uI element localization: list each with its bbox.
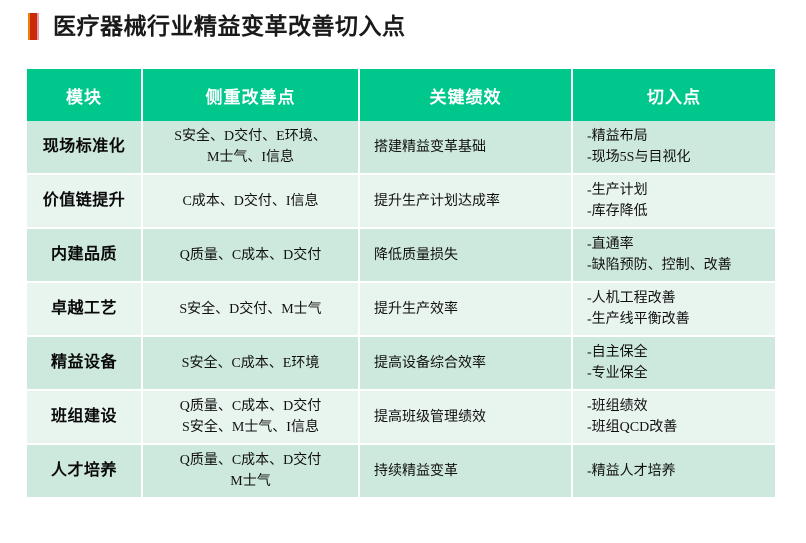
cell-kpi-line: 提升生产效率	[374, 299, 563, 320]
cell-kpi-lines: 提高设备综合效率	[374, 353, 563, 374]
cell-entry: -人机工程改善-生产线平衡改善	[573, 283, 775, 337]
cell-focus-line: Q质量、C成本、D交付	[151, 396, 350, 417]
cell-kpi: 提高班级管理绩效	[360, 391, 573, 445]
cell-module: 价值链提升	[27, 175, 143, 229]
cell-focus-lines: Q质量、C成本、D交付S安全、M士气、I信息	[151, 396, 350, 438]
cell-entry-lines: -自主保全-专业保全	[587, 342, 767, 384]
cell-focus: S安全、C成本、E环境	[143, 337, 360, 391]
cell-focus-lines: Q质量、C成本、D交付M士气	[151, 450, 350, 492]
cell-entry-line: -班组绩效	[587, 396, 767, 417]
cell-module: 卓越工艺	[27, 283, 143, 337]
cell-focus-line: S安全、M士气、I信息	[151, 417, 350, 438]
cell-focus-line: Q质量、C成本、D交付	[151, 245, 350, 266]
page-title: 医疗器械行业精益变革改善切入点	[28, 9, 406, 43]
table-row: 价值链提升C成本、D交付、I信息提升生产计划达成率-生产计划-库存降低	[27, 175, 775, 229]
cell-entry-line: -人机工程改善	[587, 288, 767, 309]
cell-kpi-lines: 降低质量损失	[374, 245, 563, 266]
cell-entry: -班组绩效-班组QCD改善	[573, 391, 775, 445]
cell-focus-lines: C成本、D交付、I信息	[151, 191, 350, 212]
cell-module: 现场标准化	[27, 121, 143, 175]
cell-focus-line: S安全、C成本、E环境	[151, 353, 350, 374]
cell-entry-line: -精益布局	[587, 126, 767, 147]
cell-focus-lines: S安全、D交付、E环境、M士气、I信息	[151, 126, 350, 168]
column-header-kpi: 关键绩效	[360, 69, 573, 121]
cell-focus: S安全、D交付、E环境、M士气、I信息	[143, 121, 360, 175]
column-header-module: 模块	[27, 69, 143, 121]
table-header: 模块 侧重改善点 关键绩效 切入点	[27, 69, 775, 121]
cell-entry-line: -精益人才培养	[587, 461, 767, 482]
table-row: 班组建设Q质量、C成本、D交付S安全、M士气、I信息提高班级管理绩效-班组绩效-…	[27, 391, 775, 445]
cell-module: 人才培养	[27, 445, 143, 497]
cell-kpi-line: 降低质量损失	[374, 245, 563, 266]
cell-kpi-line: 搭建精益变革基础	[374, 137, 563, 158]
cell-focus: Q质量、C成本、D交付	[143, 229, 360, 283]
table-row: 内建品质Q质量、C成本、D交付降低质量损失-直通率-缺陷预防、控制、改善	[27, 229, 775, 283]
cell-kpi: 提升生产效率	[360, 283, 573, 337]
cell-kpi-line: 提升生产计划达成率	[374, 191, 563, 212]
cell-kpi-lines: 搭建精益变革基础	[374, 137, 563, 158]
cell-focus: Q质量、C成本、D交付S安全、M士气、I信息	[143, 391, 360, 445]
cell-entry-lines: -精益布局-现场5S与目视化	[587, 126, 767, 168]
cell-entry-lines: -直通率-缺陷预防、控制、改善	[587, 234, 767, 276]
title-marker-icon	[28, 13, 39, 40]
cell-focus: Q质量、C成本、D交付M士气	[143, 445, 360, 497]
cell-entry-line: -直通率	[587, 234, 767, 255]
cell-entry: -精益人才培养	[573, 445, 775, 497]
cell-module: 内建品质	[27, 229, 143, 283]
cell-entry-lines: -人机工程改善-生产线平衡改善	[587, 288, 767, 330]
cell-kpi-line: 提高设备综合效率	[374, 353, 563, 374]
table: 模块 侧重改善点 关键绩效 切入点 现场标准化S安全、D交付、E环境、M士气、I…	[27, 69, 775, 497]
cell-focus-line: M士气	[151, 471, 350, 492]
cell-focus-lines: Q质量、C成本、D交付	[151, 245, 350, 266]
cell-kpi: 搭建精益变革基础	[360, 121, 573, 175]
table-row: 人才培养Q质量、C成本、D交付M士气持续精益变革-精益人才培养	[27, 445, 775, 497]
cell-focus-line: C成本、D交付、I信息	[151, 191, 350, 212]
cell-module: 精益设备	[27, 337, 143, 391]
page-title-text: 医疗器械行业精益变革改善切入点	[53, 15, 406, 38]
cell-kpi-lines: 提升生产计划达成率	[374, 191, 563, 212]
cell-entry-lines: -班组绩效-班组QCD改善	[587, 396, 767, 438]
column-header-entry: 切入点	[573, 69, 775, 121]
cell-entry-line: -库存降低	[587, 201, 767, 222]
cell-focus-line: S安全、D交付、E环境、	[151, 126, 350, 147]
cell-entry-line: -生产线平衡改善	[587, 309, 767, 330]
slide-page: 医疗器械行业精益变革改善切入点 模块 侧重改善点 关键绩效 切入点 现场标准化S…	[0, 0, 806, 543]
cell-entry-line: -自主保全	[587, 342, 767, 363]
cell-entry: -生产计划-库存降低	[573, 175, 775, 229]
cell-focus: S安全、D交付、M士气	[143, 283, 360, 337]
cell-kpi-lines: 提高班级管理绩效	[374, 407, 563, 428]
cell-kpi: 提高设备综合效率	[360, 337, 573, 391]
cell-module: 班组建设	[27, 391, 143, 445]
cell-kpi-line: 提高班级管理绩效	[374, 407, 563, 428]
lean-improvement-table: 模块 侧重改善点 关键绩效 切入点 现场标准化S安全、D交付、E环境、M士气、I…	[27, 69, 775, 497]
cell-entry: -精益布局-现场5S与目视化	[573, 121, 775, 175]
cell-kpi-line: 持续精益变革	[374, 461, 563, 482]
table-body: 现场标准化S安全、D交付、E环境、M士气、I信息搭建精益变革基础-精益布局-现场…	[27, 121, 775, 497]
cell-focus-line: Q质量、C成本、D交付	[151, 450, 350, 471]
cell-entry-line: -缺陷预防、控制、改善	[587, 255, 767, 276]
cell-kpi-lines: 持续精益变革	[374, 461, 563, 482]
cell-entry-line: -班组QCD改善	[587, 417, 767, 438]
cell-kpi: 持续精益变革	[360, 445, 573, 497]
cell-entry-lines: -生产计划-库存降低	[587, 180, 767, 222]
cell-entry: -自主保全-专业保全	[573, 337, 775, 391]
cell-kpi: 降低质量损失	[360, 229, 573, 283]
cell-focus: C成本、D交付、I信息	[143, 175, 360, 229]
table-header-row: 模块 侧重改善点 关键绩效 切入点	[27, 69, 775, 121]
table-row: 卓越工艺S安全、D交付、M士气提升生产效率-人机工程改善-生产线平衡改善	[27, 283, 775, 337]
cell-kpi: 提升生产计划达成率	[360, 175, 573, 229]
cell-entry-lines: -精益人才培养	[587, 461, 767, 482]
column-header-focus: 侧重改善点	[143, 69, 360, 121]
cell-focus-line: S安全、D交付、M士气	[151, 299, 350, 320]
cell-focus-line: M士气、I信息	[151, 147, 350, 168]
cell-kpi-lines: 提升生产效率	[374, 299, 563, 320]
cell-focus-lines: S安全、D交付、M士气	[151, 299, 350, 320]
cell-entry-line: -专业保全	[587, 363, 767, 384]
table-row: 精益设备S安全、C成本、E环境提高设备综合效率-自主保全-专业保全	[27, 337, 775, 391]
cell-entry-line: -生产计划	[587, 180, 767, 201]
cell-focus-lines: S安全、C成本、E环境	[151, 353, 350, 374]
table-row: 现场标准化S安全、D交付、E环境、M士气、I信息搭建精益变革基础-精益布局-现场…	[27, 121, 775, 175]
cell-entry: -直通率-缺陷预防、控制、改善	[573, 229, 775, 283]
cell-entry-line: -现场5S与目视化	[587, 147, 767, 168]
